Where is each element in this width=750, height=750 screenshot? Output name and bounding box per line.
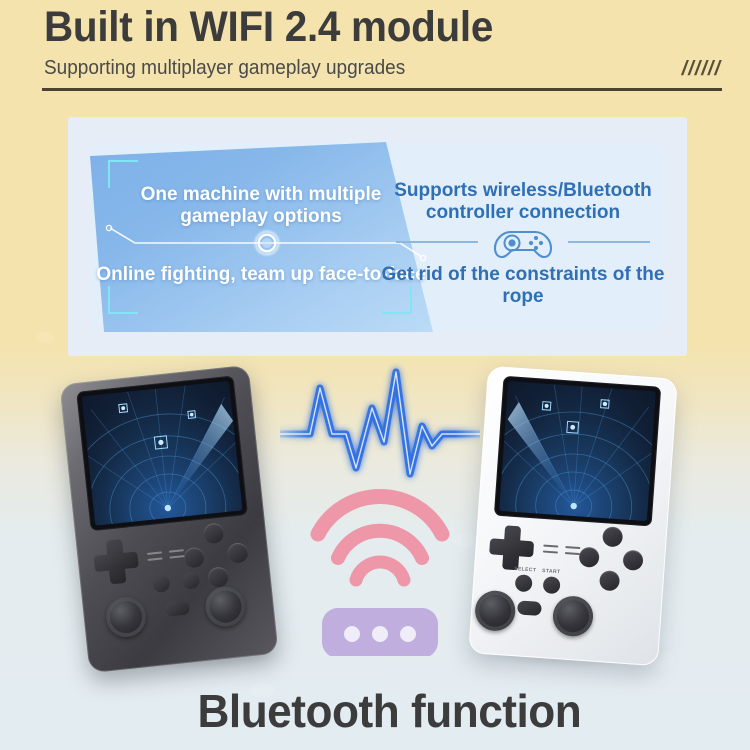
start-label: START bbox=[542, 568, 561, 575]
slash-decoration-icon: ////// bbox=[682, 58, 721, 81]
select-label: SELECT bbox=[514, 566, 536, 574]
console-screen bbox=[499, 381, 656, 521]
home-button[interactable] bbox=[165, 600, 190, 616]
home-button[interactable] bbox=[517, 600, 542, 616]
button-b[interactable] bbox=[599, 570, 620, 591]
divider-left bbox=[396, 241, 478, 243]
right-feature-line2: Get rid of the constraints of the rope bbox=[378, 264, 665, 308]
button-x[interactable] bbox=[203, 522, 225, 544]
button-a[interactable] bbox=[622, 550, 643, 571]
feature-panel: One machine with multiple gameplay optio… bbox=[68, 117, 687, 356]
footer: Bluetooth function bbox=[0, 684, 750, 750]
screen-bezel bbox=[494, 376, 661, 527]
button-a[interactable] bbox=[227, 542, 249, 564]
gamepad-icon bbox=[491, 226, 555, 260]
start-button[interactable] bbox=[543, 576, 561, 594]
button-b[interactable] bbox=[207, 566, 229, 588]
select-button[interactable] bbox=[515, 574, 533, 592]
select-button[interactable] bbox=[152, 574, 171, 593]
corner-bracket-bottom-left-icon bbox=[108, 286, 138, 314]
page-subtitle: Supporting multiplayer gameplay upgrades bbox=[44, 56, 405, 80]
dpad-icon bbox=[92, 538, 140, 586]
right-feature-line1: Supports wireless/Bluetooth controller c… bbox=[378, 180, 665, 224]
right-stick[interactable] bbox=[203, 585, 247, 629]
speaker-grill bbox=[547, 538, 592, 557]
console-screen bbox=[82, 381, 243, 526]
divider-right bbox=[568, 241, 650, 243]
right-stick[interactable] bbox=[552, 595, 595, 638]
dpad-icon bbox=[488, 524, 535, 571]
button-x[interactable] bbox=[602, 526, 623, 547]
devices-area: SELECT START bbox=[0, 356, 750, 686]
feature-card: One machine with multiple gameplay optio… bbox=[90, 142, 665, 332]
left-feature-line2: Online fighting, team up face-to-face bbox=[96, 264, 426, 286]
left-stick[interactable] bbox=[104, 595, 148, 639]
signal-graphics bbox=[280, 356, 480, 656]
left-stick[interactable] bbox=[474, 589, 517, 632]
header: Built in WIFI 2.4 module Supporting mult… bbox=[0, 0, 750, 104]
start-button[interactable] bbox=[182, 571, 201, 590]
console-controls: SELECT START bbox=[468, 517, 667, 668]
footer-title: Bluetooth function bbox=[15, 684, 735, 738]
handheld-console-black bbox=[59, 365, 278, 673]
gamepad-row bbox=[378, 220, 665, 262]
console-controls bbox=[75, 516, 278, 673]
header-divider bbox=[42, 88, 722, 91]
page-title: Built in WIFI 2.4 module bbox=[44, 3, 493, 51]
handheld-console-white: SELECT START bbox=[468, 366, 678, 667]
screen-bezel bbox=[76, 375, 248, 531]
promo-page: Built in WIFI 2.4 module Supporting mult… bbox=[0, 0, 750, 750]
